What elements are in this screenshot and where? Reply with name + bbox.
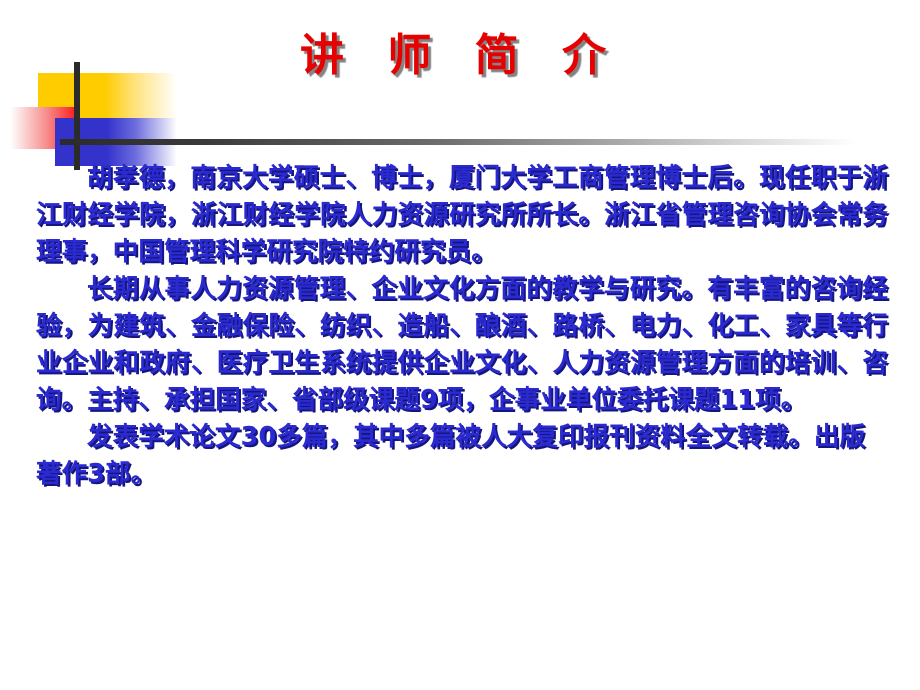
slide-body: 胡孝德，南京大学硕士、博士，厦门大学工商管理博士后。现任职于浙江财经学院，浙江财… [36,160,888,493]
blue-gradient-shape [107,118,177,166]
decorative-corner-motif [0,0,920,170]
horizontal-rule-shape [60,139,855,145]
red-gradient-shape [10,107,75,149]
yellow-square-shape [38,73,105,125]
body-paragraph-1: 胡孝德，南京大学硕士、博士，厦门大学工商管理博士后。现任职于浙江财经学院，浙江财… [36,160,888,271]
body-paragraph-2: 长期从事人力资源管理、企业文化方面的教学与研究。有丰富的咨询经验，为建筑、金融保… [36,271,888,419]
yellow-gradient-shape [105,73,177,125]
blue-square-shape [55,118,107,166]
body-paragraph-3: 发表学术论文30多篇，其中多篇被人大复印报刊资料全文转载。出版著作3部。 [36,419,888,493]
vertical-bar-shape [74,62,80,170]
slide-canvas: 讲 师 简 介 胡孝德，南京大学硕士、博士，厦门大学工商管理博士后。现任职于浙江… [0,0,920,690]
slide-title: 讲 师 简 介 [300,34,600,78]
